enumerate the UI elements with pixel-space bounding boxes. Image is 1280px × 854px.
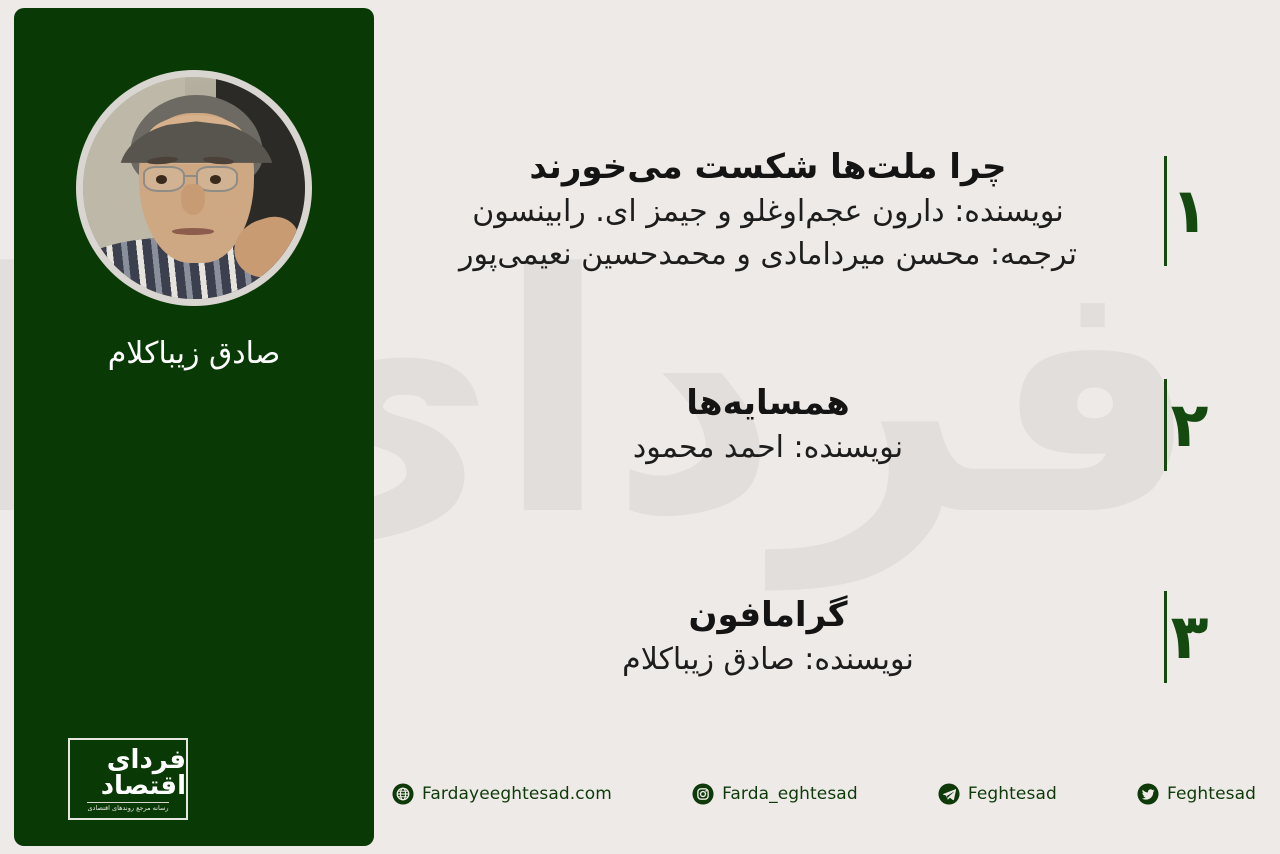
book-title: همسایه‌ها bbox=[400, 381, 1136, 427]
brand-logo-subtitle: رسانه مرجع روندهای اقتصادی bbox=[87, 802, 168, 812]
list-item: ۳ گرامافون نویسنده: صادق زیباکلام bbox=[392, 582, 1240, 692]
book-text: همسایه‌ها نویسنده: احمد محمود bbox=[392, 381, 1136, 469]
social-link-telegram[interactable]: Feghtesad bbox=[938, 783, 1057, 805]
list-item: ۱ چرا ملت‌ها شکست می‌خورند نویسنده: دارو… bbox=[392, 136, 1240, 286]
rank-number: ۳ bbox=[1167, 606, 1213, 668]
rank-block: ۳ bbox=[1136, 582, 1240, 692]
footer-social-bar: Feghtesad Feghtesad Farda_eghtesad bbox=[392, 772, 1264, 816]
social-link-website[interactable]: Fardayeeghtesad.com bbox=[392, 783, 612, 805]
book-list: ۱ چرا ملت‌ها شکست می‌خورند نویسنده: دارو… bbox=[392, 120, 1240, 720]
instagram-icon bbox=[692, 783, 714, 805]
book-author: نویسنده: صادق زیباکلام bbox=[400, 639, 1136, 682]
brand-logo: فردای اقتصاد رسانه مرجع روندهای اقتصادی bbox=[68, 738, 188, 820]
rank-divider bbox=[1164, 156, 1167, 266]
social-label: Farda_eghtesad bbox=[722, 784, 858, 804]
list-item: ۲ همسایه‌ها نویسنده: احمد محمود bbox=[392, 370, 1240, 480]
twitter-icon bbox=[1137, 783, 1159, 805]
book-title: چرا ملت‌ها شکست می‌خورند bbox=[400, 145, 1136, 191]
book-author: نویسنده: احمد محمود bbox=[400, 427, 1136, 470]
avatar bbox=[76, 70, 312, 306]
rank-block: ۲ bbox=[1136, 370, 1240, 480]
author-side-panel: صادق زیباکلام فردای اقتصاد رسانه مرجع رو… bbox=[14, 8, 374, 846]
rank-divider bbox=[1164, 379, 1167, 471]
brand-logo-title: فردای اقتصاد bbox=[70, 747, 186, 799]
author-name: صادق زیباکلام bbox=[14, 336, 374, 371]
globe-icon bbox=[392, 783, 414, 805]
social-label: Feghtesad bbox=[1167, 784, 1256, 804]
telegram-icon bbox=[938, 783, 960, 805]
social-label: Feghtesad bbox=[968, 784, 1057, 804]
rank-number: ۱ bbox=[1167, 180, 1213, 242]
social-link-instagram[interactable]: Farda_eghtesad bbox=[692, 783, 858, 805]
book-translator: ترجمه: محسن میردامادی و محمدحسین نعیمی‌پ… bbox=[400, 234, 1136, 277]
social-link-twitter[interactable]: Feghtesad bbox=[1137, 783, 1256, 805]
rank-block: ۱ bbox=[1136, 136, 1240, 286]
book-author: نویسنده: دارون عجم‌اوغلو و جیمز ای. رابی… bbox=[400, 191, 1136, 234]
poster-canvas: فردای اقتصاد bbox=[0, 0, 1280, 854]
book-title: گرامافون bbox=[400, 593, 1136, 639]
social-label: Fardayeeghtesad.com bbox=[422, 784, 612, 804]
book-text: گرامافون نویسنده: صادق زیباکلام bbox=[392, 593, 1136, 681]
rank-divider bbox=[1164, 591, 1167, 683]
avatar-portrait bbox=[83, 77, 305, 299]
rank-number: ۲ bbox=[1167, 394, 1213, 456]
book-text: چرا ملت‌ها شکست می‌خورند نویسنده: دارون … bbox=[392, 145, 1136, 276]
